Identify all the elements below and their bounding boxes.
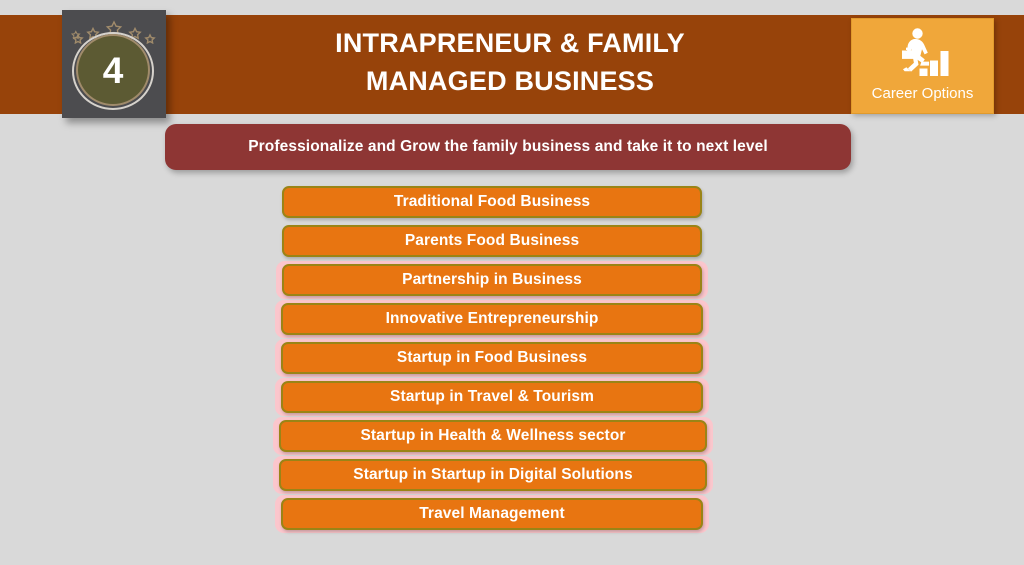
career-option-pill[interactable]: Travel Management	[281, 498, 703, 530]
page-title-line-1: INTRAPRENEUR & FAMILY	[180, 24, 840, 62]
option-row: Startup in Food Business	[0, 342, 1024, 381]
subtitle-text: Professionalize and Grow the family busi…	[248, 138, 768, 156]
option-row: Innovative Entrepreneurship	[0, 303, 1024, 342]
option-row: Startup in Travel & Tourism	[0, 381, 1024, 420]
level-badge: 4	[62, 10, 166, 118]
career-options-label: Career Options	[872, 86, 974, 101]
option-row: Startup in Startup in Digital Solutions	[0, 459, 1024, 498]
career-option-pill[interactable]: Startup in Startup in Digital Solutions	[279, 459, 707, 491]
career-options-box[interactable]: Career Options	[851, 18, 994, 114]
career-option-pill[interactable]: Innovative Entrepreneurship	[281, 303, 703, 335]
career-option-pill[interactable]: Startup in Health & Wellness sector	[279, 420, 707, 452]
career-growth-icon	[890, 23, 956, 85]
career-option-pill[interactable]: Partnership in Business	[282, 264, 702, 296]
option-row: Startup in Health & Wellness sector	[0, 420, 1024, 459]
option-row: Partnership in Business	[0, 264, 1024, 303]
career-options-list: Traditional Food BusinessParents Food Bu…	[0, 186, 1024, 537]
option-row: Traditional Food Business	[0, 186, 1024, 225]
career-option-pill[interactable]: Parents Food Business	[282, 225, 702, 257]
page-title-line-2: MANAGED BUSINESS	[180, 62, 840, 100]
badge-level-number: 4	[76, 34, 150, 106]
career-option-pill[interactable]: Startup in Food Business	[281, 342, 703, 374]
option-row: Parents Food Business	[0, 225, 1024, 264]
option-row: Travel Management	[0, 498, 1024, 537]
career-option-pill[interactable]: Startup in Travel & Tourism	[281, 381, 703, 413]
subtitle-banner: Professionalize and Grow the family busi…	[165, 124, 851, 170]
page-title: INTRAPRENEUR & FAMILY MANAGED BUSINESS	[180, 24, 840, 101]
career-option-pill[interactable]: Traditional Food Business	[282, 186, 702, 218]
